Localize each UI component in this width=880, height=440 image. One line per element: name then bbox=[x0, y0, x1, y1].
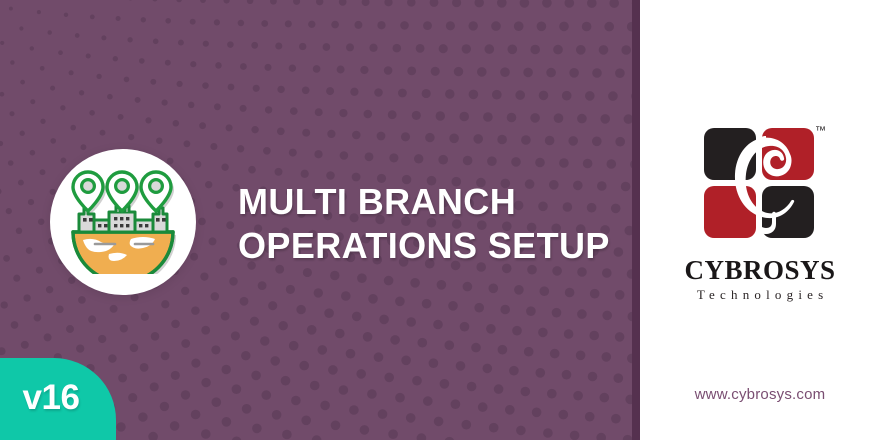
logo-tile-bottom-left bbox=[704, 186, 756, 238]
banner-title-line-1: MULTI BRANCH bbox=[238, 180, 618, 224]
brand-website-url[interactable]: www.cybrosys.com bbox=[640, 386, 880, 403]
banner-title-line-2: OPERATIONS SETUP bbox=[238, 224, 618, 268]
right-brand-panel: ™ CYBROSYS Technologies www.cybrosys.com bbox=[640, 0, 880, 440]
banner-title: MULTI BRANCH OPERATIONS SETUP bbox=[238, 180, 618, 268]
version-badge-label: v16 bbox=[0, 378, 102, 418]
trademark-symbol: ™ bbox=[815, 125, 826, 137]
cybrosys-logo: ™ bbox=[694, 118, 826, 250]
left-purple-panel: MULTI BRANCH OPERATIONS SETUP v16 bbox=[0, 0, 640, 440]
multi-branch-globe-icon bbox=[69, 170, 177, 274]
brand-name: CYBROSYS bbox=[680, 256, 840, 284]
feature-icon-badge bbox=[50, 149, 196, 295]
brand-tagline: Technologies bbox=[680, 287, 840, 303]
promo-banner: MULTI BRANCH OPERATIONS SETUP v16 bbox=[0, 0, 880, 440]
cybrosys-logo-mark: ™ bbox=[694, 118, 826, 250]
brand-logo-block: ™ CYBROSYS Technologies bbox=[680, 118, 840, 303]
panel-edge-strip bbox=[632, 0, 640, 440]
